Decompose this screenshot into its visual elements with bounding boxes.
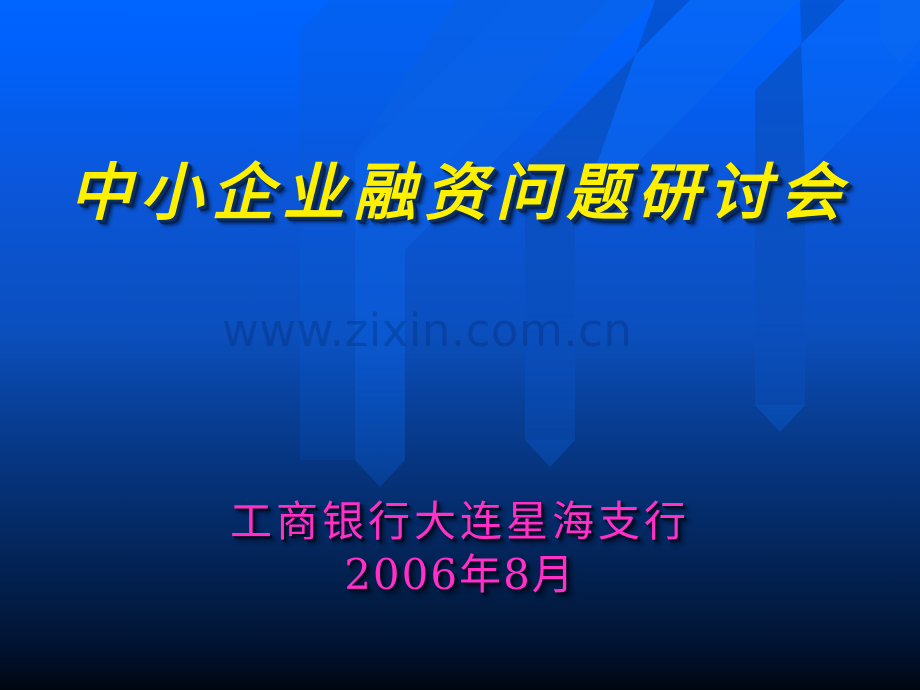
- presentation-date: 2006年8月: [0, 548, 920, 602]
- stripe-c-tip: [755, 405, 805, 432]
- subtitle-block: 工商银行大连星海支行 2006年8月: [0, 496, 920, 602]
- page-title: 中小企业融资问题研讨会: [0, 142, 920, 232]
- title-slide: www.zixin.com.cn 中小企业融资问题研讨会 工商银行大连星海支行 …: [0, 0, 920, 690]
- watermark-text: www.zixin.com.cn: [222, 304, 632, 357]
- stripe-a-tip: [355, 460, 405, 487]
- stripe-b-tip: [525, 440, 575, 467]
- stripe-corner-chevron: [880, 0, 920, 62]
- organization-name: 工商银行大连星海支行: [0, 496, 920, 548]
